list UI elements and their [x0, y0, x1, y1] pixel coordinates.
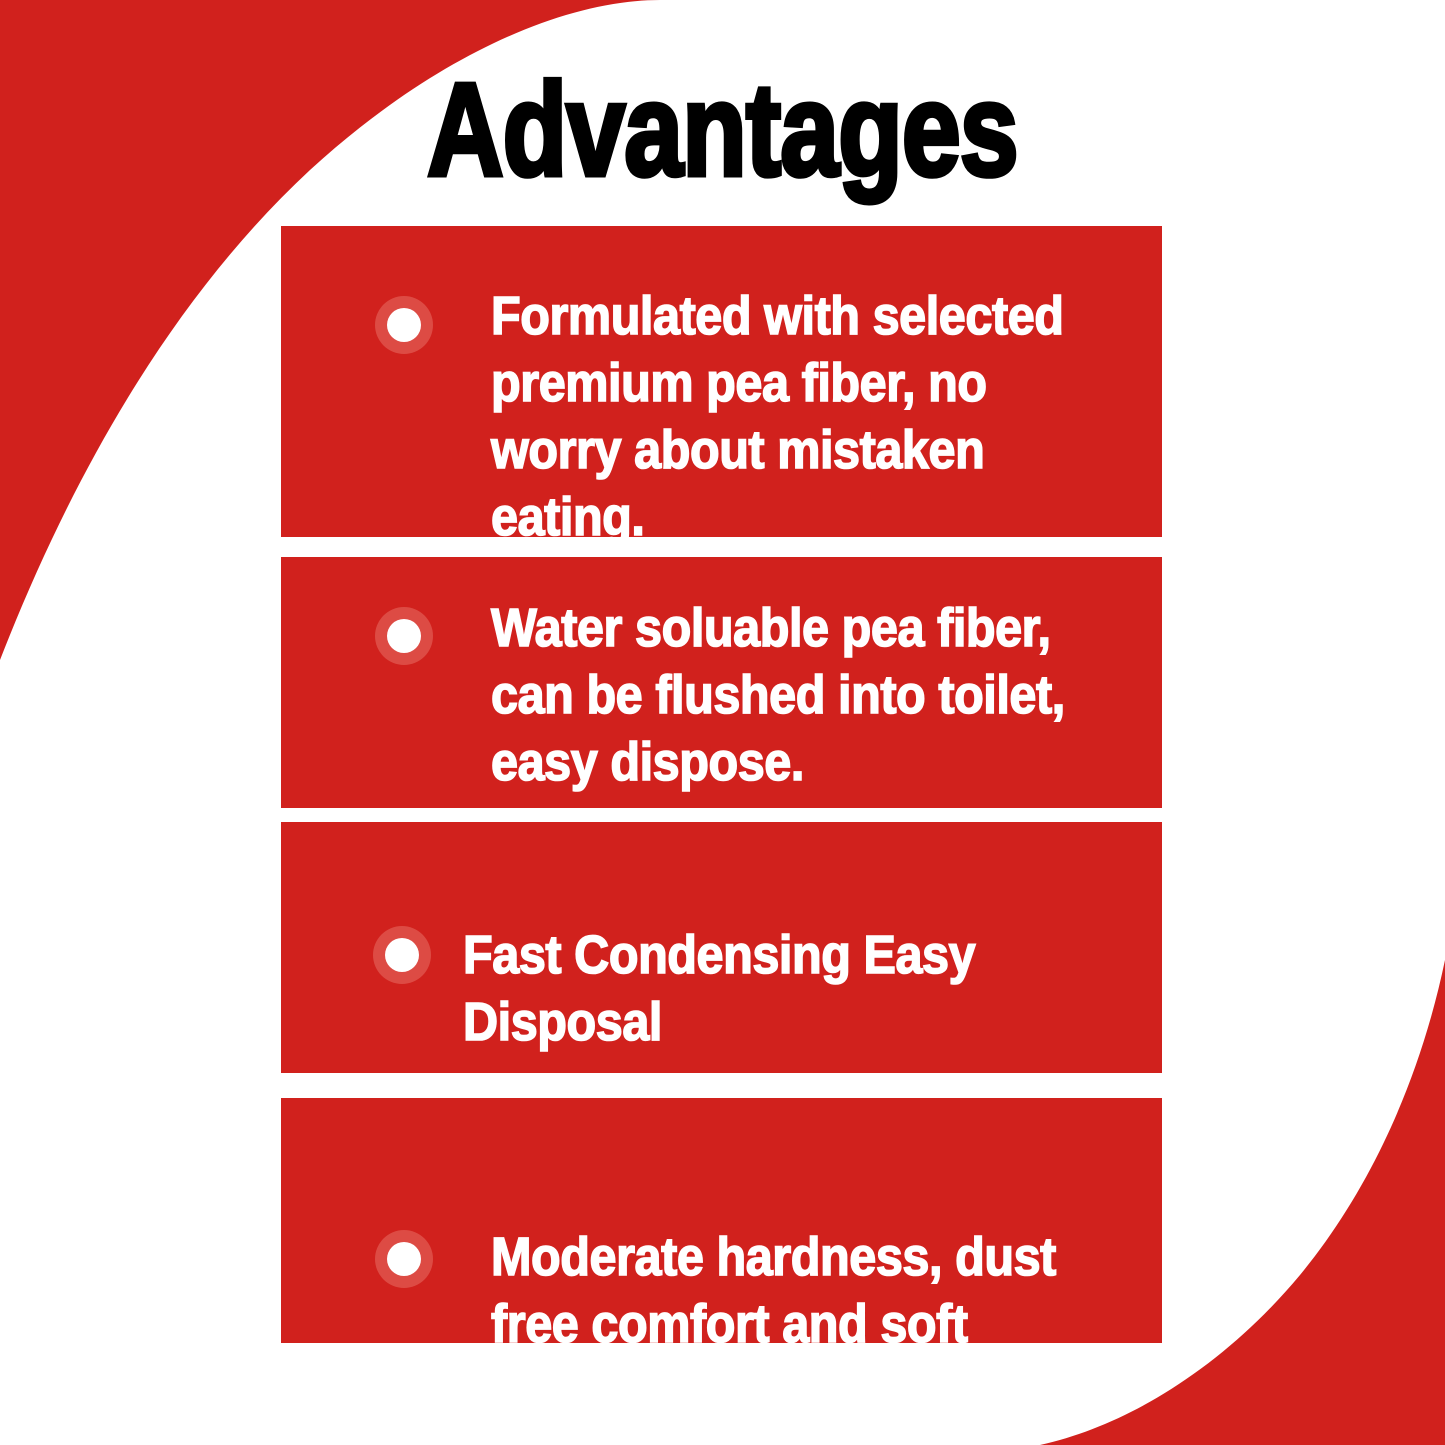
- advantages-poster: Advantages Formulated with selected prem…: [0, 0, 1445, 1445]
- page-title: Advantages: [145, 62, 1301, 198]
- advantage-text-3: Fast Condensing Easy Disposal: [463, 922, 1092, 1056]
- bullet-core: [387, 308, 421, 342]
- advantage-text-4: Moderate hardness, dust free comfort and…: [491, 1224, 1095, 1343]
- advantages-list: Formulated with selected premium pea fib…: [281, 226, 1162, 1343]
- filled-circle-bullet-icon: [375, 607, 433, 665]
- advantage-card-2: Water soluable pea fiber, can be flushed…: [281, 557, 1162, 808]
- advantage-card-1: Formulated with selected premium pea fib…: [281, 226, 1162, 537]
- filled-circle-bullet-icon: [375, 296, 433, 354]
- bullet-core: [387, 619, 421, 653]
- advantage-card-3: Fast Condensing Easy Disposal: [281, 822, 1162, 1073]
- advantage-text-2: Water soluable pea fiber, can be flushed…: [491, 595, 1095, 796]
- bullet-core: [385, 938, 419, 972]
- advantage-text-1: Formulated with selected premium pea fib…: [491, 283, 1095, 537]
- advantage-card-4: Moderate hardness, dust free comfort and…: [281, 1098, 1162, 1343]
- bullet-core: [387, 1242, 421, 1276]
- filled-circle-bullet-icon: [373, 926, 431, 984]
- filled-circle-bullet-icon: [375, 1230, 433, 1288]
